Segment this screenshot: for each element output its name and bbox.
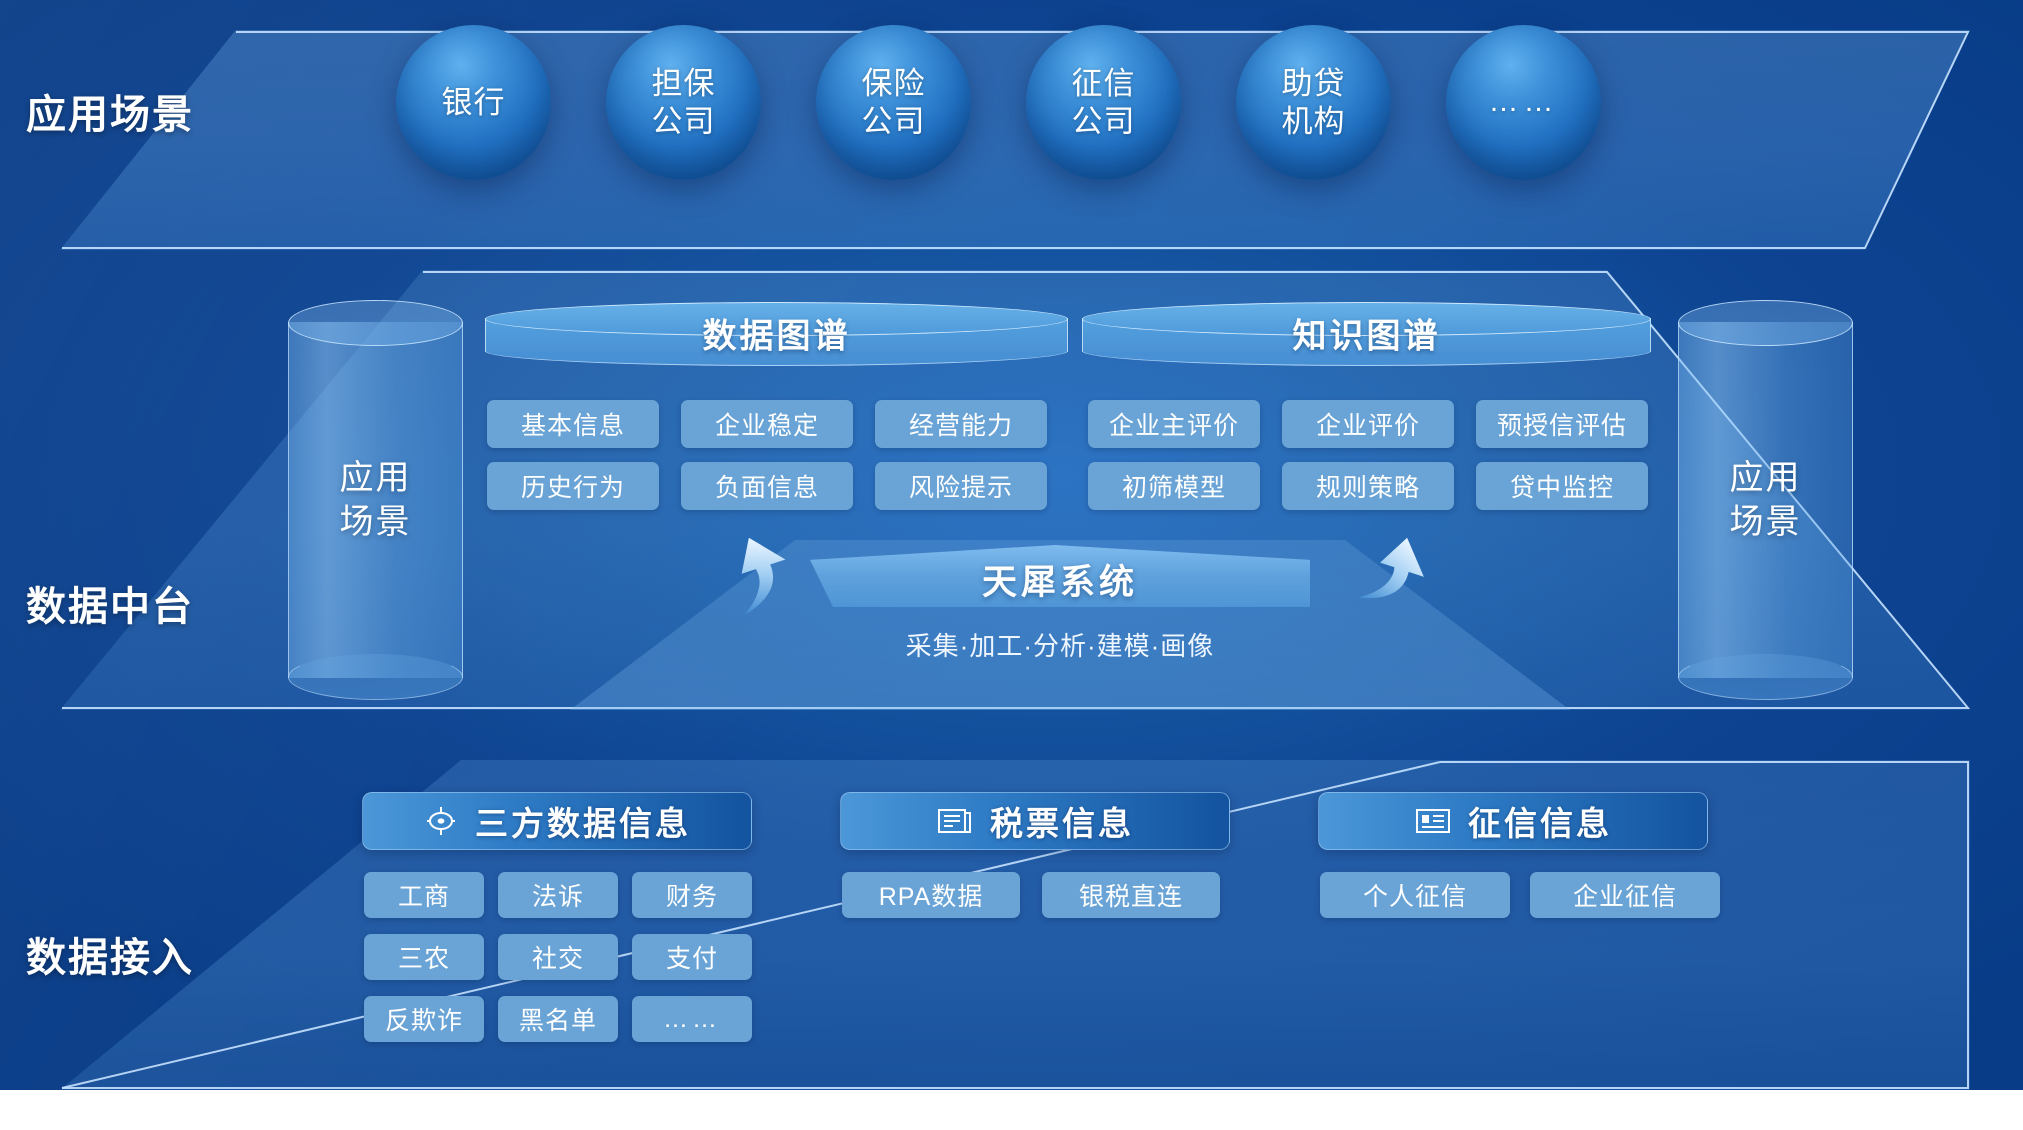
- knowledge-graph-tag[interactable]: 贷中监控: [1476, 462, 1648, 510]
- chip-label: 法诉: [532, 877, 584, 913]
- scene-sphere-label: 担保 公司: [652, 65, 716, 141]
- core-system-title: 天犀系统: [810, 554, 1310, 605]
- data-graph-tag[interactable]: 历史行为: [487, 462, 659, 510]
- chip-label: RPA数据: [879, 877, 984, 913]
- row-label-data-access: 数据接入: [26, 925, 194, 983]
- scene-sphere-label: 征信 公司: [1072, 65, 1136, 141]
- data-graph-tag[interactable]: 风险提示: [875, 462, 1047, 510]
- chip-label: 负面信息: [715, 468, 819, 504]
- chip-label: 个人征信: [1363, 877, 1467, 913]
- scene-sphere-loan-assist-agency[interactable]: 助贷 机构: [1236, 25, 1391, 180]
- scene-sphere-bank[interactable]: 银行: [396, 25, 551, 180]
- chip-label: 企业稳定: [715, 406, 819, 442]
- chip-label: 企业征信: [1573, 877, 1677, 913]
- right-application-scene-cylinder: 应用 场景: [1678, 300, 1853, 700]
- third-party-tag[interactable]: 财务: [632, 872, 752, 918]
- tax-invoice-header[interactable]: 税票信息: [840, 792, 1230, 850]
- chip-label: 初筛模型: [1122, 468, 1226, 504]
- credit-report-tag[interactable]: 个人征信: [1320, 872, 1510, 918]
- third-party-data-header[interactable]: 三方数据信息: [362, 792, 752, 850]
- chip-label: 规则策略: [1316, 468, 1420, 504]
- left-application-scene-cylinder: 应用 场景: [288, 300, 463, 700]
- cylinder-label: 应用 场景: [1678, 456, 1853, 544]
- knowledge-graph-tag[interactable]: 企业主评价: [1088, 400, 1260, 448]
- chip-label: 三农: [398, 939, 450, 975]
- architecture-diagram: 银行 担保 公司 保险 公司 征信 公司 助贷 机构 …… 应用场景 应用 场景…: [0, 0, 2023, 1130]
- cylinder-label: 应用 场景: [288, 456, 463, 544]
- third-party-tag[interactable]: 三农: [364, 934, 484, 980]
- chip-label: 工商: [398, 877, 450, 913]
- knowledge-graph-title: 知识图谱: [1082, 309, 1651, 358]
- cylinder-bottom-ellipse: [1678, 654, 1853, 700]
- third-party-data-title: 三方数据信息: [475, 797, 691, 845]
- chip-label: 反欺诈: [385, 1001, 463, 1037]
- data-graph-banner[interactable]: 数据图谱: [485, 302, 1068, 366]
- cylinder-top-ellipse: [1678, 300, 1853, 346]
- data-graph-tag[interactable]: 企业稳定: [681, 400, 853, 448]
- chip-label: 基本信息: [521, 406, 625, 442]
- chip-label: 预授信评估: [1497, 406, 1627, 442]
- scene-sphere-label: ……: [1489, 84, 1559, 121]
- core-system-subtitle: 采集·加工·分析·建模·画像: [810, 626, 1310, 663]
- row-label-application-scene: 应用场景: [26, 82, 194, 140]
- third-party-tag[interactable]: 社交: [498, 934, 618, 980]
- data-graph-tag[interactable]: 经营能力: [875, 400, 1047, 448]
- tax-invoice-tag[interactable]: RPA数据: [842, 872, 1020, 918]
- third-party-tag[interactable]: 反欺诈: [364, 996, 484, 1042]
- cylinder-bottom-ellipse: [288, 654, 463, 700]
- data-graph-tag[interactable]: 基本信息: [487, 400, 659, 448]
- target-icon: [423, 803, 459, 839]
- platform-face-top: [60, 30, 1970, 250]
- tax-invoice-title: 税票信息: [990, 797, 1134, 845]
- core-system-banner[interactable]: 天犀系统: [810, 545, 1310, 607]
- application-scene-platform: [60, 30, 1970, 250]
- right-upward-arrow: [1348, 532, 1432, 616]
- scene-sphere-label: 银行: [442, 84, 506, 122]
- credit-report-header[interactable]: 征信信息: [1318, 792, 1708, 850]
- id-card-icon: [1414, 805, 1452, 837]
- chip-label: 银税直连: [1079, 877, 1183, 913]
- chip-label: 经营能力: [909, 406, 1013, 442]
- cylinder-top-ellipse: [288, 300, 463, 346]
- tax-invoice-tag[interactable]: 银税直连: [1042, 872, 1220, 918]
- knowledge-graph-banner[interactable]: 知识图谱: [1082, 302, 1651, 366]
- invoice-icon: [936, 805, 974, 837]
- knowledge-graph-tag[interactable]: 企业评价: [1282, 400, 1454, 448]
- chip-label: 社交: [532, 939, 584, 975]
- left-upward-arrow: [712, 532, 796, 616]
- row-label-data-middle-platform: 数据中台: [26, 574, 194, 632]
- scene-sphere-credit-company[interactable]: 征信 公司: [1026, 25, 1181, 180]
- third-party-tag[interactable]: 黑名单: [498, 996, 618, 1042]
- scene-sphere-guarantee-company[interactable]: 担保 公司: [606, 25, 761, 180]
- scene-sphere-more[interactable]: ……: [1446, 25, 1601, 180]
- chip-label: ……: [663, 1005, 721, 1034]
- data-graph-title: 数据图谱: [485, 309, 1068, 358]
- third-party-tag[interactable]: 工商: [364, 872, 484, 918]
- knowledge-graph-tag[interactable]: 预授信评估: [1476, 400, 1648, 448]
- chip-label: 风险提示: [909, 468, 1013, 504]
- chip-label: 财务: [666, 877, 718, 913]
- third-party-tag-more[interactable]: ……: [632, 996, 752, 1042]
- credit-report-tag[interactable]: 企业征信: [1530, 872, 1720, 918]
- chip-label: 历史行为: [521, 468, 625, 504]
- chip-label: 贷中监控: [1510, 468, 1614, 504]
- scene-sphere-label: 保险 公司: [862, 65, 926, 141]
- credit-report-title: 征信信息: [1468, 797, 1612, 845]
- data-graph-tag[interactable]: 负面信息: [681, 462, 853, 510]
- scene-sphere-insurance-company[interactable]: 保险 公司: [816, 25, 971, 180]
- third-party-tag[interactable]: 法诉: [498, 872, 618, 918]
- chip-label: 企业评价: [1316, 406, 1420, 442]
- chip-label: 黑名单: [519, 1001, 597, 1037]
- knowledge-graph-tag[interactable]: 规则策略: [1282, 462, 1454, 510]
- knowledge-graph-tag[interactable]: 初筛模型: [1088, 462, 1260, 510]
- scene-sphere-label: 助贷 机构: [1282, 65, 1346, 141]
- bottom-white-strip: [0, 1090, 2023, 1130]
- third-party-tag[interactable]: 支付: [632, 934, 752, 980]
- chip-label: 支付: [666, 939, 718, 975]
- chip-label: 企业主评价: [1109, 406, 1239, 442]
